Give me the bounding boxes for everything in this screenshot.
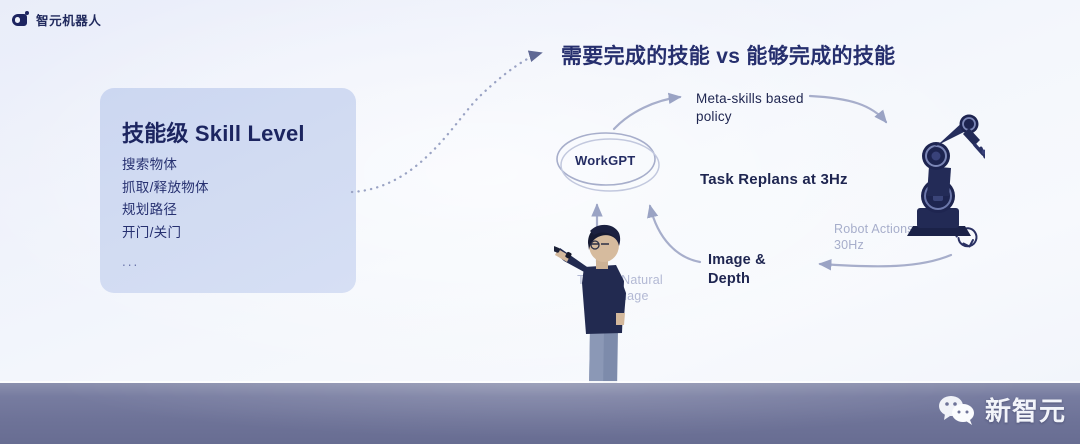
watermark-text: 新智元 <box>985 391 1066 428</box>
skill-level-card: 技能级 Skill Level 搜索物体 抓取/释放物体 规划路径 开门/关门 … <box>100 88 356 293</box>
slide-presentation-photo: 智元机器人 技能级 Skill Level 搜索物体 抓取/释放物体 规划路径 … <box>0 0 1080 444</box>
brand-name: 智元机器人 <box>36 10 102 29</box>
label-task-replans: Task Replans at 3Hz <box>700 171 848 188</box>
zhiyuan-robot-logo-icon <box>12 11 29 28</box>
skill-card-title: 技能级 Skill Level <box>122 116 305 148</box>
list-item: 开门/关门 <box>122 222 209 245</box>
skill-card-list: 搜索物体 抓取/释放物体 规划路径 开门/关门 ... <box>122 154 209 273</box>
label-meta-skills-policy: Meta-skills based policy <box>696 90 816 126</box>
list-item-ellipsis: ... <box>122 244 209 273</box>
label-image-depth: Image & Depth <box>708 251 766 289</box>
list-item: 搜索物体 <box>122 154 209 177</box>
label-workgpt-node: WorkGPT <box>575 153 635 168</box>
list-item: 规划路径 <box>122 199 209 222</box>
brand-logo: 智元机器人 <box>12 10 102 29</box>
stage-floor-sheen <box>0 383 1080 444</box>
watermark: 新智元 <box>937 391 1066 428</box>
list-item: 抓取/释放物体 <box>122 177 209 200</box>
robot-arm-icon <box>893 104 985 244</box>
page-title: 需要完成的技能 vs 能够完成的技能 <box>561 40 895 70</box>
wechat-icon <box>937 394 977 426</box>
